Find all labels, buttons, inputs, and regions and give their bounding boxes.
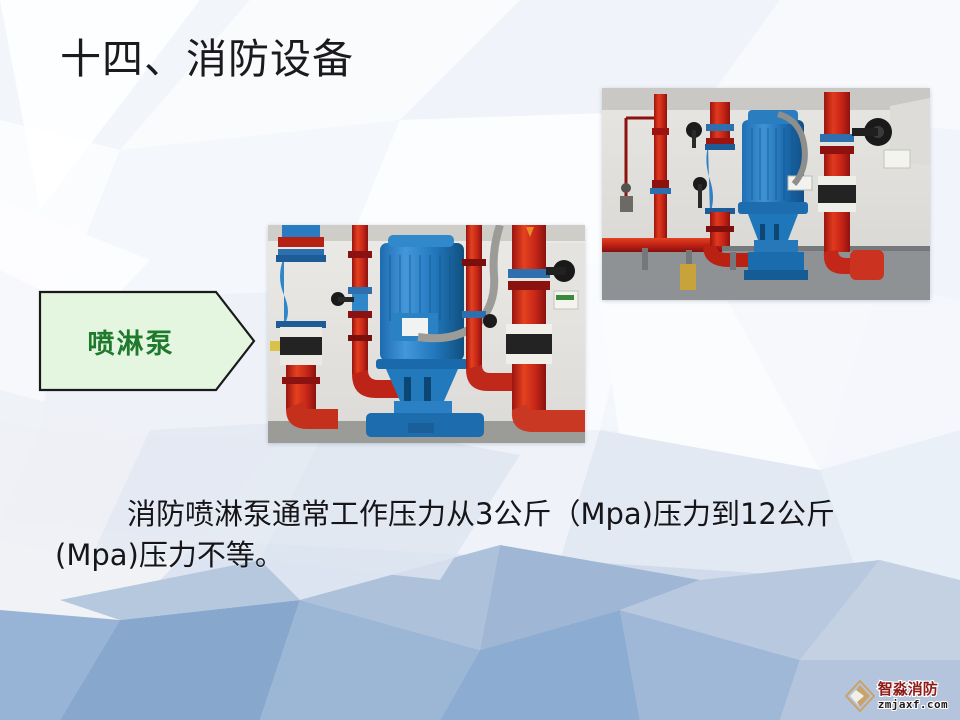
watermark-url: zmjaxf.com xyxy=(878,699,948,710)
callout-banner-shape xyxy=(38,290,256,392)
page-title: 十四、消防设备 xyxy=(60,34,354,84)
watermark-text-block: 智淼消防 zmjaxf.com xyxy=(878,682,948,710)
body-paragraph: 消防喷淋泵通常工作压力从3公斤（Mpa)压力到12公斤(Mpa)压力不等。 xyxy=(55,494,915,576)
pump-photo-top xyxy=(602,88,930,300)
watermark-brand-name: 智淼消防 xyxy=(878,682,948,697)
pump-photo-bottom xyxy=(268,225,585,443)
slide-canvas: 十四、消防设备 xyxy=(0,0,960,720)
watermark: 智淼消防 zmjaxf.com xyxy=(845,680,948,712)
pump-photo-top-illustration xyxy=(602,88,930,300)
callout-banner[interactable]: 喷淋泵 xyxy=(38,290,256,392)
pump-photo-bottom-illustration xyxy=(268,225,585,443)
diamond-z-logo-icon xyxy=(845,680,875,712)
